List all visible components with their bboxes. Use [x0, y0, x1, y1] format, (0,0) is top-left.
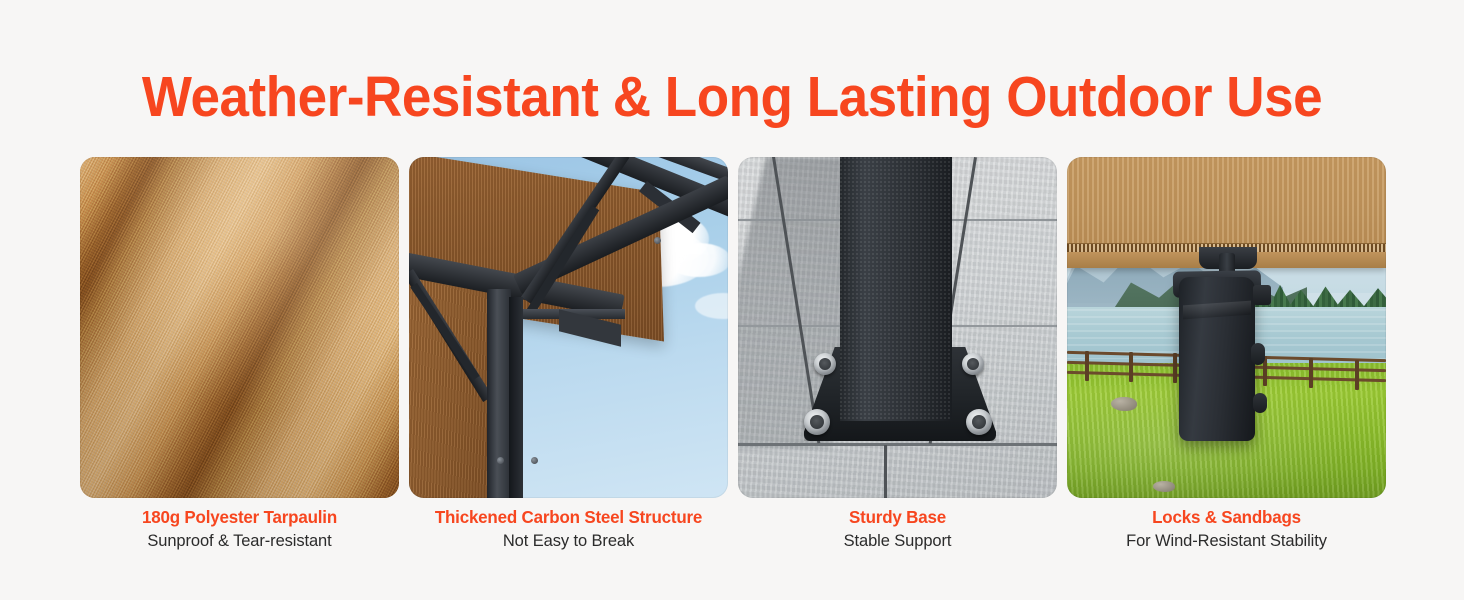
fabric-lighting-overlay	[80, 157, 399, 498]
paver-seam	[738, 443, 1057, 446]
feature-caption-row: 180g Polyester Tarpaulin Sunproof & Tear…	[80, 506, 1386, 566]
paver-seam	[884, 445, 887, 498]
sandbag-tab	[1251, 343, 1265, 365]
tarpaulin-photo	[80, 157, 399, 498]
sturdy-base-photo	[738, 157, 1057, 498]
caption-tarpaulin: 180g Polyester Tarpaulin Sunproof & Tear…	[80, 506, 399, 566]
locks-sandbags-photo	[1067, 157, 1386, 498]
anchor-bolt	[966, 409, 992, 435]
caption-locks-sandbags: Locks & Sandbags For Wind-Resistant Stab…	[1067, 506, 1386, 566]
caption-subtitle: Stable Support	[743, 528, 1052, 554]
product-feature-banner: Weather-Resistant & Long Lasting Outdoor…	[0, 0, 1464, 600]
caption-steel-structure: Thickened Carbon Steel Structure Not Eas…	[409, 506, 728, 566]
caption-subtitle: Not Easy to Break	[414, 528, 723, 554]
screw-icon	[654, 237, 661, 244]
post-texture	[840, 157, 952, 421]
vertical-post-shadow-face	[509, 297, 523, 498]
feature-card-locks-sandbags[interactable]	[1067, 157, 1386, 498]
steel-structure-photo	[409, 157, 728, 498]
caption-subtitle: Sunproof & Tear-resistant	[85, 528, 394, 554]
caption-title: Locks & Sandbags	[1072, 506, 1381, 528]
rock	[1111, 397, 1137, 411]
page-title: Weather-Resistant & Long Lasting Outdoor…	[51, 66, 1413, 128]
vertical-post	[487, 289, 511, 498]
sandbag-tab	[1253, 393, 1267, 413]
caption-subtitle: For Wind-Resistant Stability	[1072, 528, 1381, 554]
caption-title: Thickened Carbon Steel Structure	[414, 506, 723, 528]
feature-card-steel-structure[interactable]	[409, 157, 728, 498]
sandbag-tab	[1253, 285, 1271, 305]
feature-card-tarpaulin[interactable]	[80, 157, 399, 498]
rock	[1153, 481, 1175, 492]
caption-title: 180g Polyester Tarpaulin	[85, 506, 394, 528]
feature-image-row	[80, 157, 1386, 498]
support-post	[840, 157, 952, 421]
anchor-bolt	[814, 353, 836, 375]
caption-title: Sturdy Base	[743, 506, 1052, 528]
anchor-bolt	[962, 353, 984, 375]
fabric-illustration	[80, 157, 399, 498]
anchor-bolt	[804, 409, 830, 435]
screw-icon	[497, 457, 504, 464]
feature-card-sturdy-base[interactable]	[738, 157, 1057, 498]
cloud-shape	[667, 243, 728, 277]
screw-icon	[531, 457, 538, 464]
caption-sturdy-base: Sturdy Base Stable Support	[738, 506, 1057, 566]
